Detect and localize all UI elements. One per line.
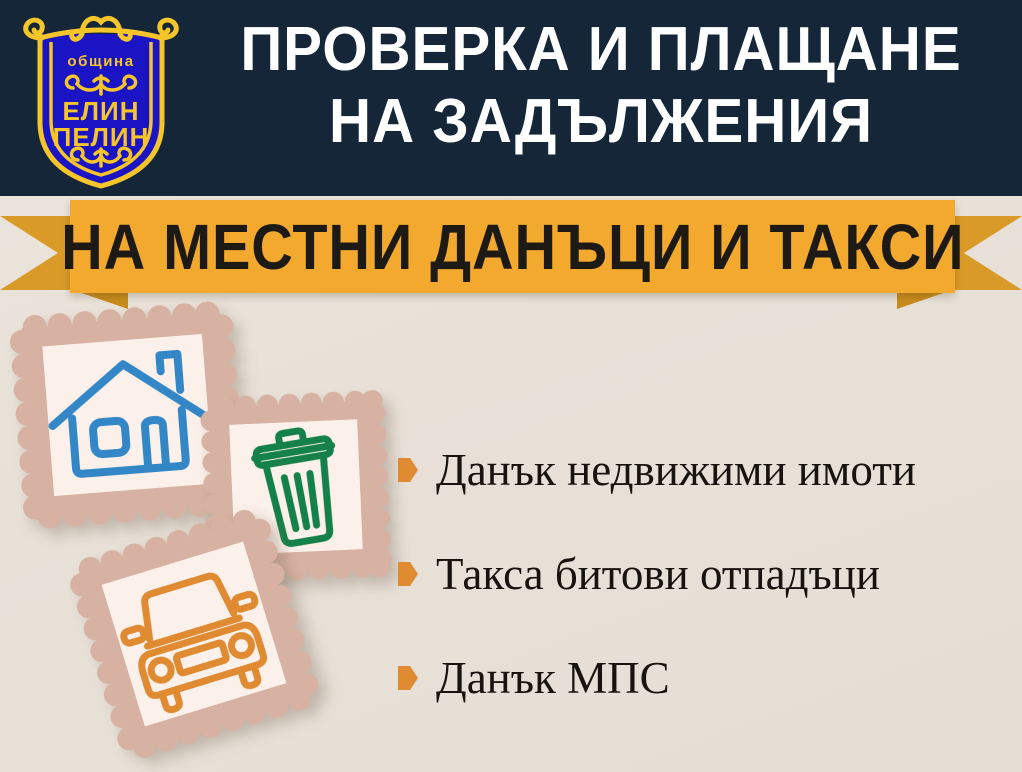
ribbon-label: НА МЕСТНИ ДАНЪЦИ И ТАКСИ — [61, 215, 964, 279]
list-item[interactable]: Данък МПС — [398, 626, 1014, 730]
header-bar: община ЕЛИН ПЕЛИН — [0, 0, 1022, 196]
list-item-label: Данък недвижими имоти — [436, 445, 916, 495]
poster-title: ПРОВЕРКА И ПЛАЩАНЕ НА ЗАДЪЛЖЕНИЯ — [190, 14, 1012, 158]
municipality-logo: община ЕЛИН ПЕЛИН — [18, 4, 184, 190]
list-item[interactable]: Такса битови отпадъци — [398, 522, 1014, 626]
arrow-bullet-icon — [398, 562, 418, 586]
list-item-label: Такса битови отпадъци — [436, 549, 880, 599]
title-line-2: НА ЗАДЪЛЖЕНИЯ — [215, 86, 988, 158]
arrow-bullet-icon — [398, 458, 418, 482]
list-item[interactable]: Данък недвижими имоти — [398, 418, 1014, 522]
title-line-1: ПРОВЕРКА И ПЛАЩАНЕ — [215, 14, 988, 86]
subtitle-ribbon: НА МЕСТНИ ДАНЪЦИ И ТАКСИ — [0, 196, 1022, 308]
crest-icon: община ЕЛИН ПЕЛИН — [18, 4, 184, 190]
arrow-bullet-icon — [398, 666, 418, 690]
ribbon-banner: НА МЕСТНИ ДАНЪЦИ И ТАКСИ — [70, 200, 955, 293]
tax-type-list: Данък недвижими имоти Такса битови отпад… — [398, 418, 1014, 730]
svg-text:община: община — [67, 53, 134, 70]
poster-canvas: община ЕЛИН ПЕЛИН — [0, 0, 1022, 772]
list-item-label: Данък МПС — [436, 653, 670, 703]
